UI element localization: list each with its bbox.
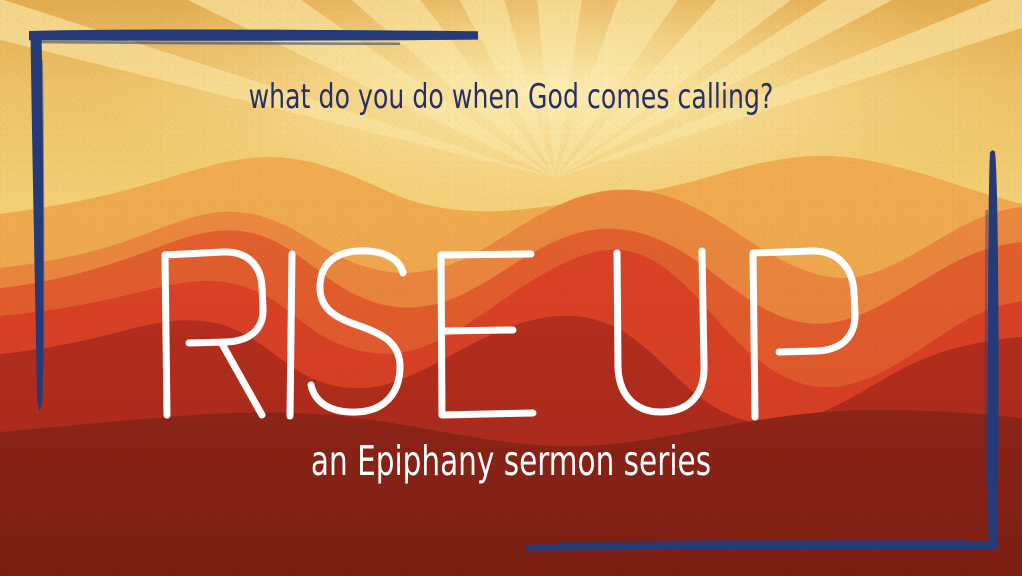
- frame-bottom-stroke: [525, 541, 997, 551]
- subtitle-text: an Epiphany sermon series: [102, 437, 920, 485]
- frame-top-stroke: [29, 29, 478, 40]
- frame-top-stroke-wisp: [34, 41, 400, 45]
- glyph-R: [165, 252, 263, 415]
- glyph-S: [311, 251, 403, 412]
- title-rise-up: [161, 245, 861, 421]
- glyph-I: [290, 254, 292, 416]
- title-block: [0, 238, 1022, 428]
- glyph-U: [617, 251, 704, 412]
- tagline-text: what do you do when God comes calling?: [92, 77, 930, 117]
- frame-bottom-stroke-wisp: [560, 539, 970, 544]
- sermon-title-slide: what do you do when God comes calling? a…: [0, 0, 1022, 576]
- glyph-P: [753, 251, 855, 417]
- ground-dark: [0, 410, 1022, 576]
- glyph-E: [441, 254, 533, 415]
